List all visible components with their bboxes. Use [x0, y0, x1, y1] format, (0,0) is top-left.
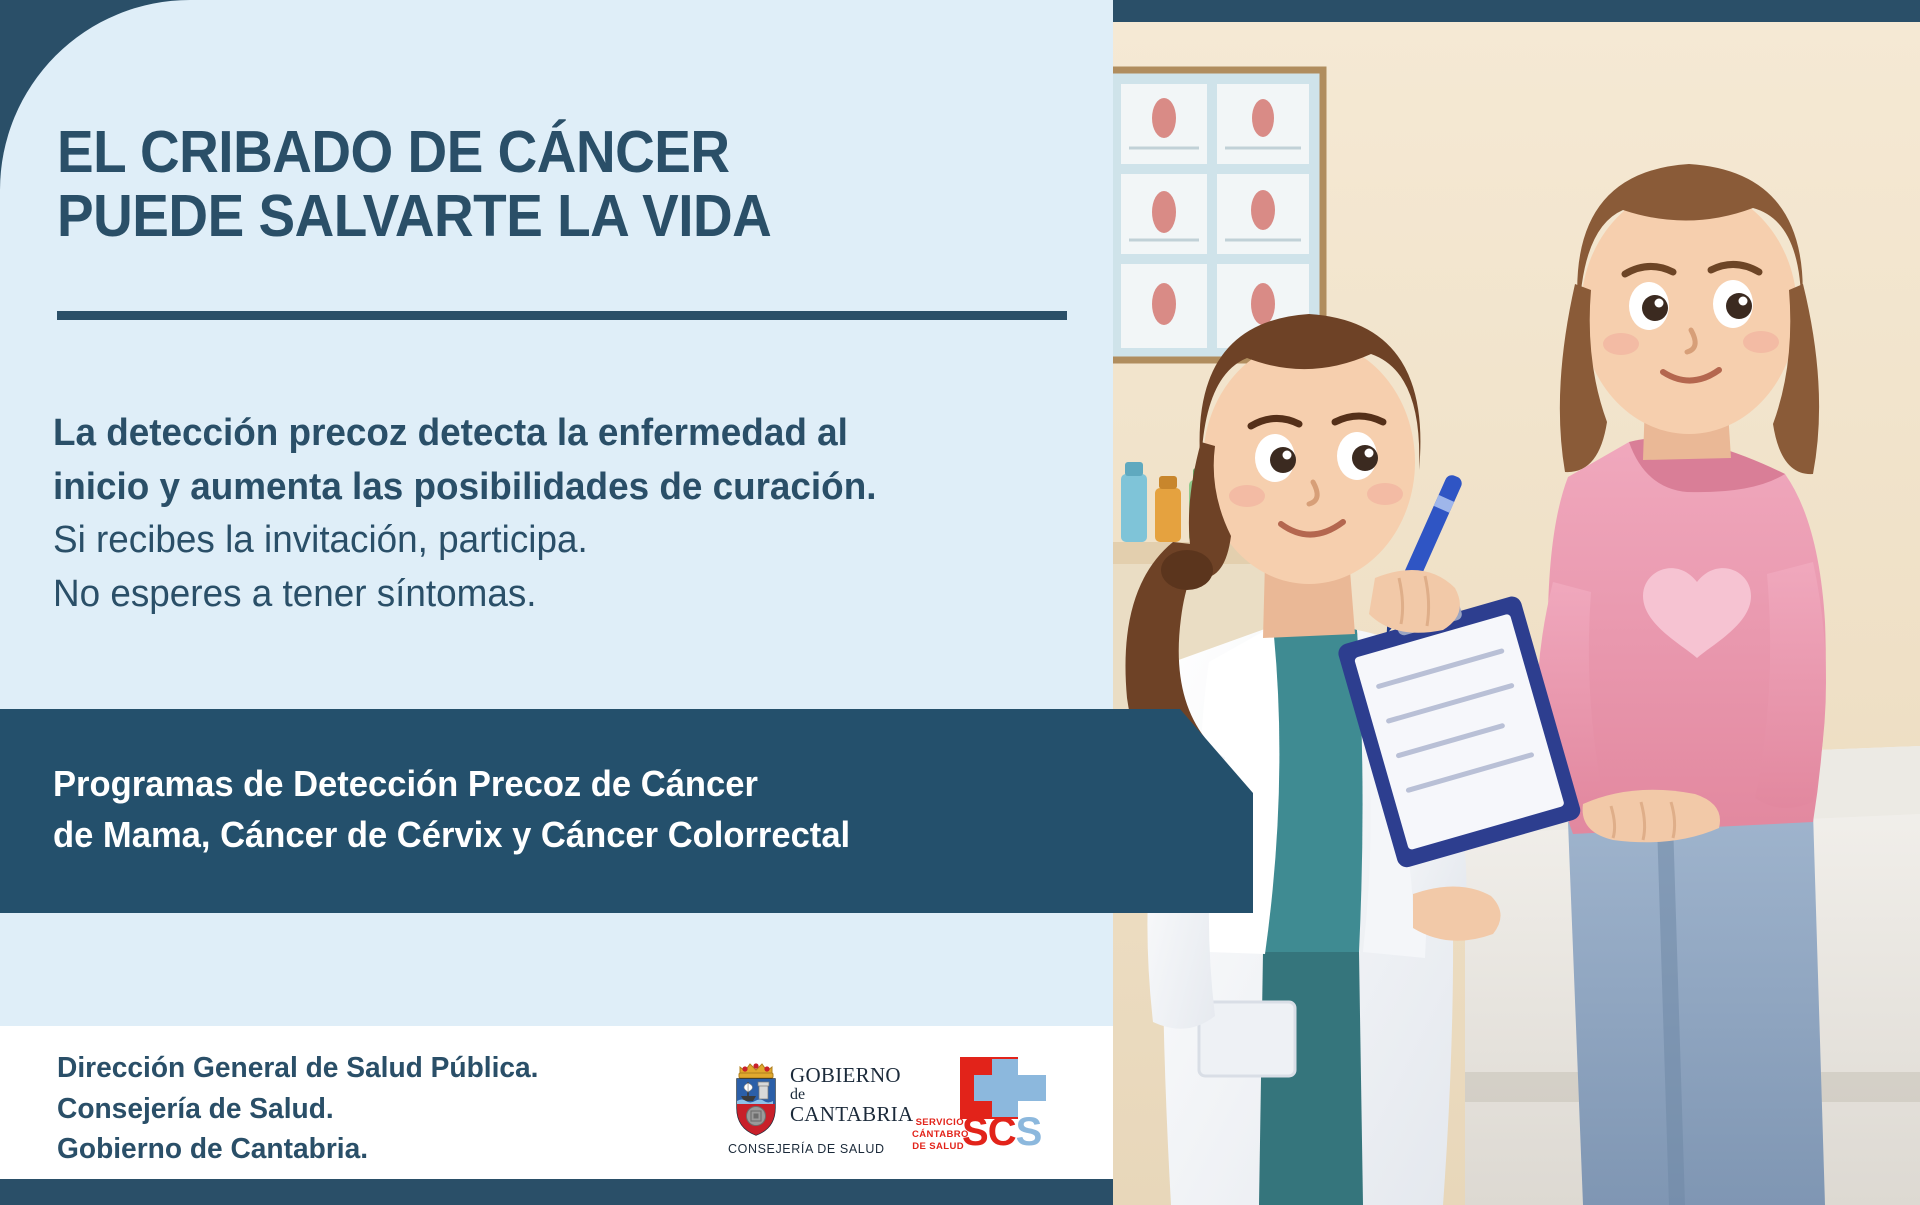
scs-acronym: SCS [962, 1112, 1041, 1152]
banner-line-1: Programas de Detección Precoz de Cáncer [53, 758, 1157, 809]
scs-vert-line-1: SERVICIO [912, 1117, 964, 1129]
scs-vert-line-3: DE SALUD [912, 1141, 964, 1153]
gobierno-cantabria-wordmark: GOBIERNO de CANTABRIA [790, 1065, 914, 1125]
headline-line-1: EL CRIBADO DE CÁNCER [57, 119, 730, 185]
body-line-3: Si recibes la invitación, participa. [53, 514, 1052, 568]
cantabria-coat-of-arms-icon [726, 1058, 786, 1138]
gob-subtitle-consejeria: CONSEJERÍA DE SALUD [728, 1142, 885, 1156]
page-title: EL CRIBADO DE CÁNCER PUEDE SALVARTE LA V… [57, 120, 987, 249]
scs-servicio-cantabro-text: SERVICIO CÁNTABRO DE SALUD [912, 1117, 964, 1153]
footer-line-3: Gobierno de Cantabria. [57, 1129, 538, 1170]
body-line-4: No esperes a tener síntomas. [53, 568, 1052, 622]
scs-vert-line-2: CÁNTABRO [912, 1129, 964, 1141]
gob-word-gobierno: GOBIERNO [790, 1065, 914, 1086]
footer-organization: Dirección General de Salud Pública. Cons… [57, 1048, 538, 1170]
consultation-illustration [1113, 22, 1920, 1205]
poster-canvas: EL CRIBADO DE CÁNCER PUEDE SALVARTE LA V… [0, 0, 1920, 1205]
footer-line-1: Dirección General de Salud Pública. [57, 1048, 538, 1089]
footer-line-2: Consejería de Salud. [57, 1089, 538, 1130]
scs-cross-vertical [992, 1059, 1018, 1117]
body-line-2: inicio y aumenta las posibilidades de cu… [53, 461, 1052, 515]
banner-line-2: de Mama, Cáncer de Cérvix y Cáncer Color… [53, 809, 1157, 860]
scs-letter-c: C [988, 1110, 1016, 1154]
programs-banner-text: Programas de Detección Precoz de Cáncer … [53, 758, 1157, 860]
scs-letter-s2: S [1016, 1110, 1042, 1154]
body-line-1: La detección precoz detecta la enfermeda… [53, 407, 1052, 461]
scs-letter-s1: S [962, 1110, 988, 1154]
title-divider [57, 311, 1067, 320]
gobierno-cantabria-logo: GOBIERNO de CANTABRIA CONSEJERÍA DE SALU… [726, 1058, 906, 1158]
gob-word-cantabria: CANTABRIA [790, 1104, 914, 1125]
headline-line-2: PUEDE SALVARTE LA VIDA [57, 184, 987, 248]
scs-logo: SERVICIO CÁNTABRO DE SALUD SCS [912, 1057, 1072, 1162]
body-copy: La detección precoz detecta la enfermeda… [53, 407, 1052, 621]
